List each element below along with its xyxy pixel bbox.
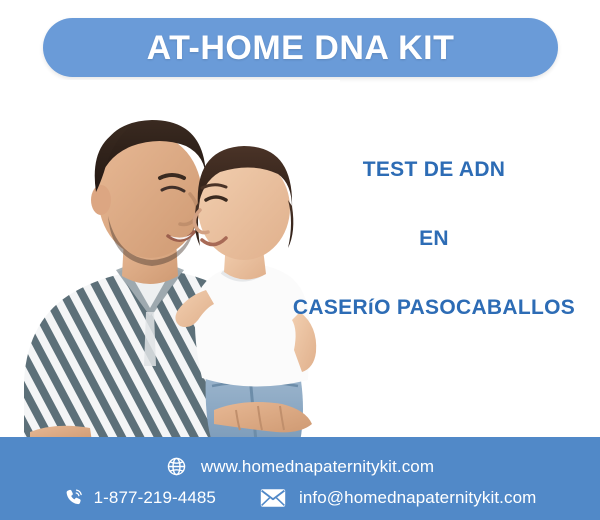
- headline-line-preposition: EN: [278, 227, 590, 250]
- phone-icon: [64, 487, 85, 508]
- footer-phone-item[interactable]: 1-877-219-4485: [64, 487, 216, 508]
- footer-email-item[interactable]: info@homednapaternitykit.com: [260, 488, 536, 508]
- footer-row-contact: 1-877-219-4485 info@homednapaternitykit.…: [0, 487, 600, 508]
- page-title: AT-HOME DNA KIT: [147, 31, 455, 65]
- footer-phone-text: 1-877-219-4485: [94, 488, 216, 508]
- headline-line-location: CASERíO PASOCABALLOS: [278, 296, 590, 319]
- poster-canvas: AT-HOME DNA KIT: [0, 0, 600, 520]
- envelope-icon: [260, 488, 286, 508]
- globe-icon: [166, 456, 187, 477]
- header-banner: AT-HOME DNA KIT: [43, 18, 558, 77]
- headline-line-service: TEST DE ADN: [278, 158, 590, 181]
- headline-block: TEST DE ADN EN CASERíO PASOCABALLOS: [278, 158, 590, 319]
- footer-row-website: www.homednapaternitykit.com: [0, 456, 600, 477]
- footer-band: www.homednapaternitykit.com 1-877-219-44…: [0, 437, 600, 520]
- footer-email-text: info@homednapaternitykit.com: [299, 488, 536, 508]
- footer-website-item[interactable]: www.homednapaternitykit.com: [166, 456, 434, 477]
- footer-website-text: www.homednapaternitykit.com: [201, 457, 434, 477]
